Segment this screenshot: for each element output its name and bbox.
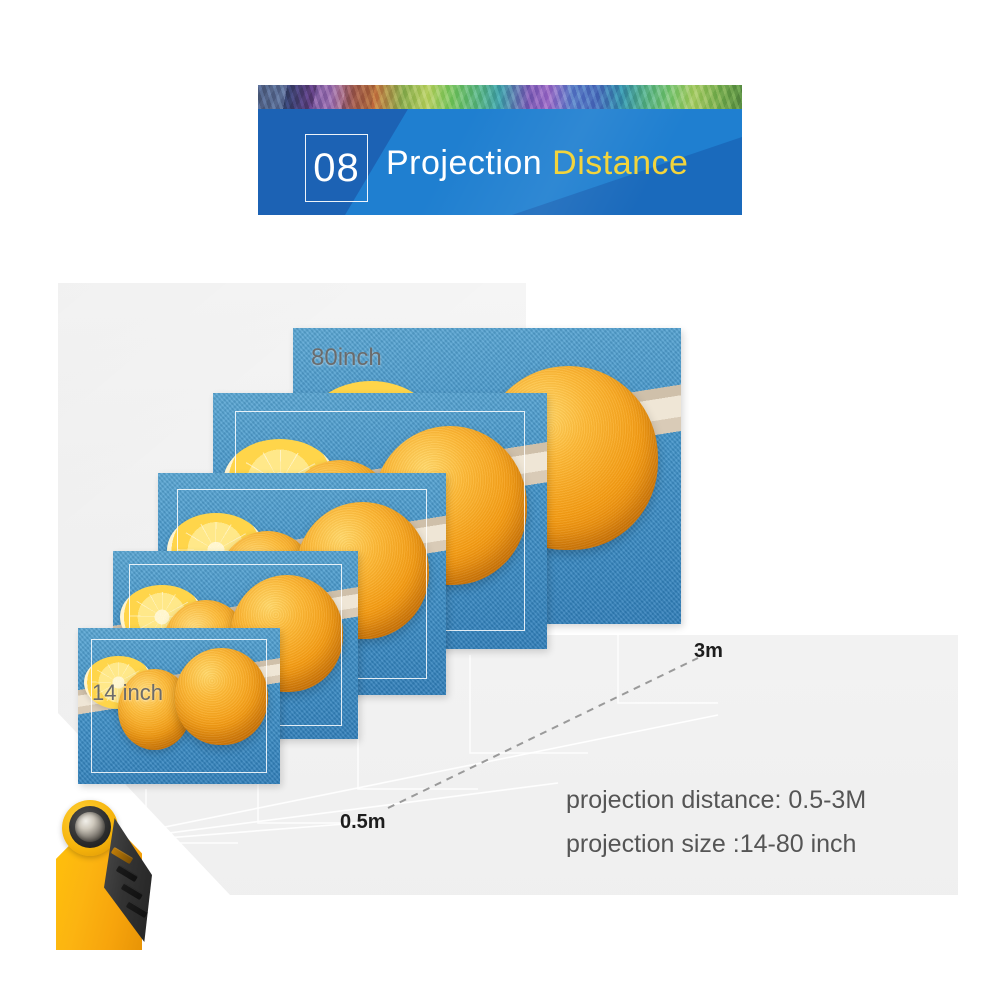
section-number-box: 08	[305, 134, 368, 202]
infographic-page: 08 Projection Distance	[0, 0, 1000, 1000]
distance-label-far: 3m	[694, 640, 723, 663]
orange-main-shape	[175, 648, 268, 745]
projected-image	[78, 628, 280, 784]
projector-device-icon	[48, 790, 198, 950]
page-title-main: Projection	[386, 144, 552, 182]
section-header-banner: 08 Projection Distance	[258, 85, 742, 215]
page-title: Projection Distance	[386, 144, 688, 183]
section-number: 08	[313, 148, 360, 188]
spec-projection-distance: projection distance: 0.5-3M	[566, 778, 966, 822]
projector-lens-glass	[75, 812, 105, 842]
projection-screen-14inch: 14 inch	[78, 628, 280, 784]
spec-projection-size: projection size :14-80 inch	[566, 822, 966, 866]
page-title-accent: Distance	[552, 144, 688, 182]
spec-text-block: projection distance: 0.5-3M projection s…	[566, 778, 966, 866]
banner-photo-strip	[258, 85, 742, 109]
distance-label-near: 0.5m	[340, 811, 386, 834]
